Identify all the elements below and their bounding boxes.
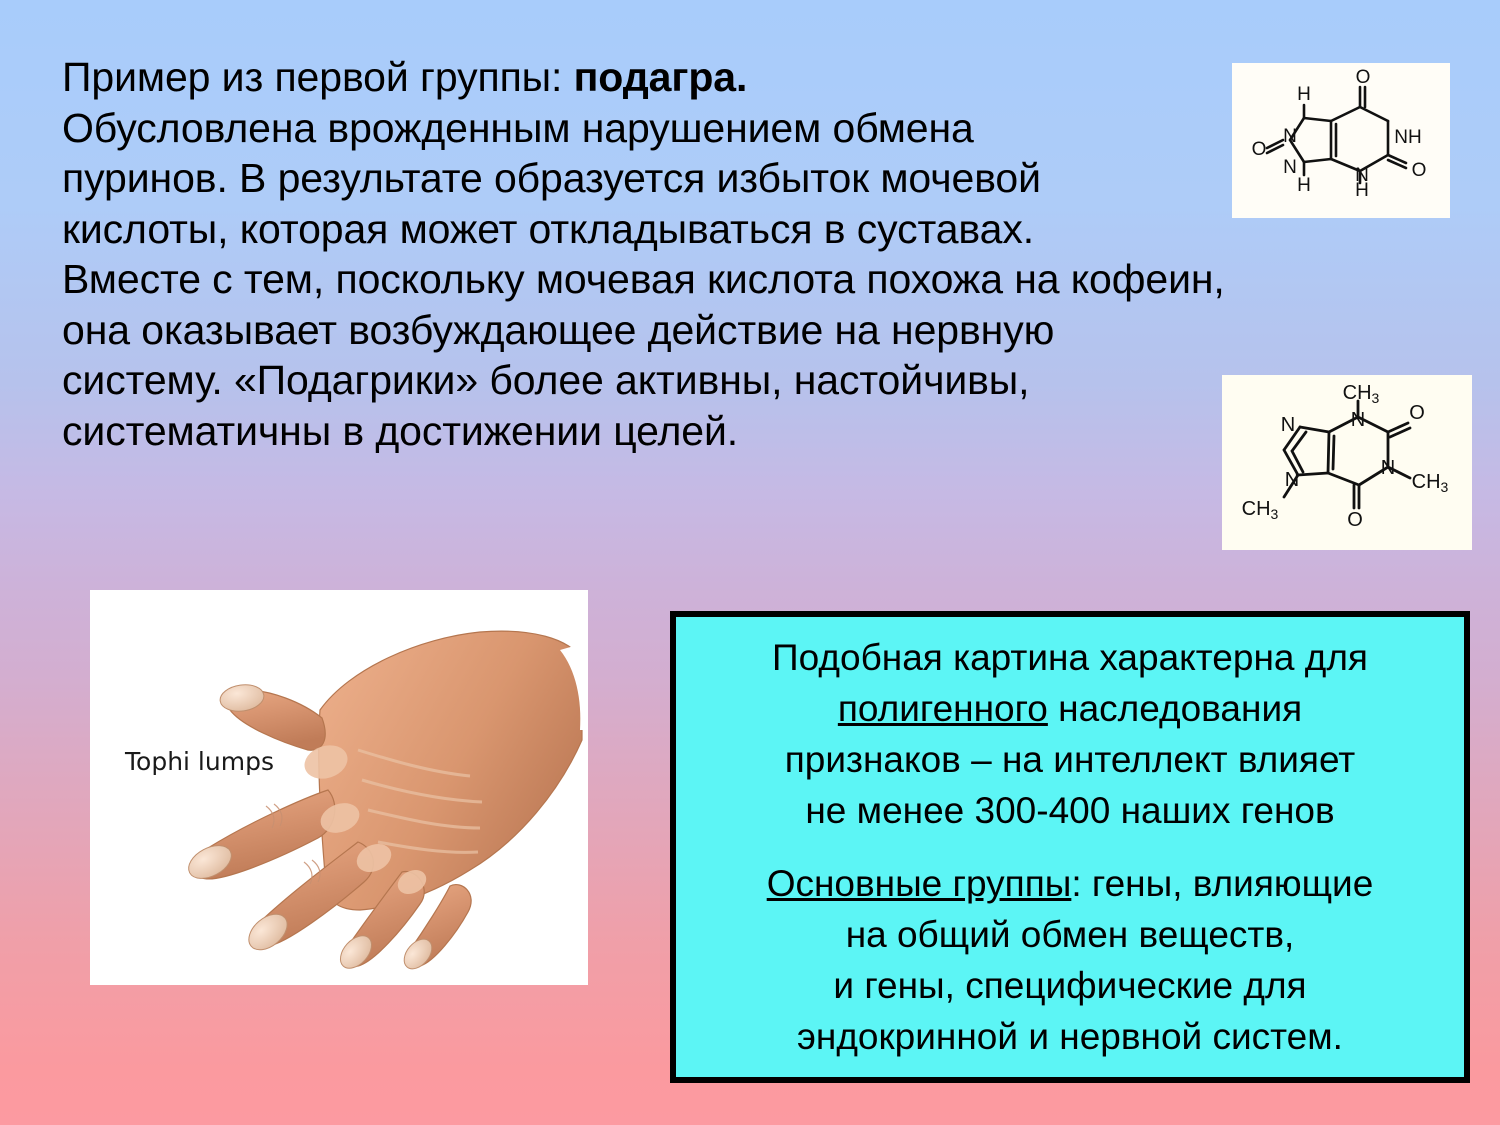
body-text-line-2: Обусловлена врожденным нарушением обмена	[62, 103, 1242, 154]
callout-p1-line-2-underlined: полигенного	[838, 688, 1048, 729]
uric-acid-molecule-image: H N H N O O NH O H N	[1232, 63, 1450, 218]
callout-p2-line-3: и гены, специфические для	[676, 960, 1464, 1011]
caffeine-molecule-image: N N N N O O CH3 CH3 CH3	[1222, 375, 1472, 550]
body-text-line-5: Вместе с тем, поскольку мочевая кислота …	[62, 254, 1242, 305]
tophi-lumps-label: Tophi lumps	[125, 747, 274, 776]
atom-label-o-right: O	[1409, 402, 1425, 424]
body-text-line-7: систему. «Подагрики» более активны, наст…	[62, 355, 1242, 406]
callout-p2-line-1-rest: : гены, влияющие	[1071, 863, 1373, 904]
body-text-line-1-normal: Пример из первой группы	[62, 54, 551, 100]
atom-label-ch3-bottom-left: CH3	[1242, 498, 1279, 522]
callout-p1-line-4: не менее 300-400 наших генов	[676, 785, 1464, 836]
atom-label-o-left: O	[1252, 139, 1267, 160]
body-text-line-8: систематичны в достижении целей.	[62, 406, 1242, 457]
callout-p2-line-2: на общий обмен веществ,	[676, 909, 1464, 960]
atom-label-h-top: H	[1297, 84, 1311, 105]
callout-p2-line-1-underlined: Основные группы	[767, 863, 1072, 904]
atom-label-n-right: N	[1381, 457, 1395, 479]
atom-label-ch3-top: CH3	[1343, 382, 1380, 406]
atom-label-ch3-right: CH3	[1412, 471, 1449, 495]
svg-text:N: N	[1283, 126, 1297, 147]
callout-p2-line-1: Основные группы: гены, влияющие	[676, 858, 1464, 909]
atom-label-n-lower-left: N	[1285, 469, 1299, 491]
body-text-line-3: пуринов. В результате образуется избыток…	[62, 153, 1242, 204]
callout-p1-line-1: Подобная картина характерна для	[676, 632, 1464, 683]
atom-label-h-bottom: H	[1297, 175, 1311, 196]
atom-label-n-upper-left: N	[1281, 414, 1295, 436]
atom-label-o-top: O	[1356, 67, 1371, 88]
body-text-line-4: кислоты, которая может откладываться в с…	[62, 204, 1242, 255]
body-text-block: Пример из первой группы: подагра. Обусло…	[62, 52, 1242, 456]
callout-p1-line-2: полигенного наследования	[676, 683, 1464, 734]
atom-label-o-right: O	[1412, 160, 1427, 181]
callout-p2-line-4: эндокринной и нервной систем.	[676, 1011, 1464, 1062]
svg-text:N: N	[1355, 165, 1369, 186]
hand-drawing	[90, 590, 588, 985]
atom-label-nh-right: NH	[1394, 127, 1421, 148]
atom-label-n-top: N	[1351, 409, 1365, 431]
presentation-slide: Пример из первой группы: подагра. Обусло…	[0, 0, 1500, 1125]
body-text-line-1-separator: :	[551, 54, 574, 100]
body-text-line-1: Пример из первой группы: подагра.	[62, 52, 1242, 103]
callout-paragraph-1: Подобная картина характерна для полигенн…	[676, 632, 1464, 836]
svg-text:N: N	[1283, 157, 1297, 178]
atom-label-o-bottom: O	[1347, 509, 1363, 531]
callout-p1-line-3: признаков – на интеллект влияет	[676, 734, 1464, 785]
callout-paragraph-2: Основные группы: гены, влияющие на общий…	[676, 858, 1464, 1062]
polygenic-inheritance-callout-box: Подобная картина характерна для полигенн…	[670, 611, 1470, 1083]
callout-p1-line-2-rest: наследования	[1048, 688, 1302, 729]
body-text-line-6: она оказывает возбуждающее действие на н…	[62, 305, 1242, 356]
body-text-line-1-bold: подагра.	[574, 54, 748, 100]
gout-hand-illustration: Tophi lumps	[90, 590, 588, 985]
